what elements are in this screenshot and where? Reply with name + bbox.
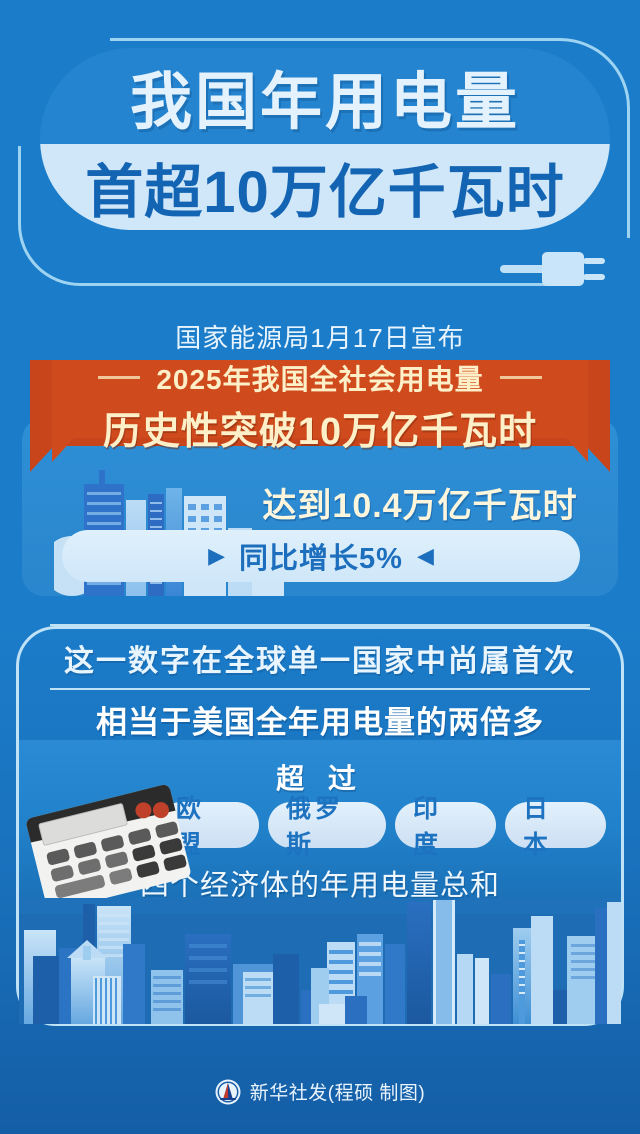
growth-text: 同比增长5% (239, 535, 403, 577)
dash-left-icon (98, 376, 140, 379)
page-title-line1: 我国年用电量 (40, 48, 610, 144)
dash-right-icon (500, 376, 542, 379)
calculator-icon (18, 784, 198, 909)
divider-bottom (50, 688, 590, 690)
footer-credit: 新华社发(程硕 制图) (250, 1078, 425, 1105)
title-card: 我国年用电量 首超10万亿千瓦时 (40, 48, 610, 230)
country-pill-japan[interactable]: 日 本 (505, 802, 606, 848)
footer: 新华社发(程硕 制图) (0, 1078, 640, 1105)
source-announcement: 国家能源局1月17日宣布 (0, 318, 640, 355)
city-skyline-large (19, 898, 621, 1024)
xinhua-logo-icon (215, 1079, 241, 1105)
page-title-line2: 首超10万亿千瓦时 (40, 144, 610, 230)
country-pill-india[interactable]: 印 度 (395, 802, 496, 848)
country-pill-row: 欧 盟 俄罗斯 印 度 日 本 (158, 802, 606, 848)
reach-value-text: 达到10.4万亿千瓦时 (220, 478, 620, 527)
double-us-text: 相当于美国全年用电量的两倍多 (0, 697, 640, 742)
triangle-left-icon: ▶ (208, 545, 225, 567)
banner-eyebrow-row: 2025年我国全社会用电量 (98, 358, 541, 398)
country-pill-russia[interactable]: 俄罗斯 (268, 802, 386, 848)
triangle-right-icon: ◀ (417, 545, 434, 567)
global-first-text: 这一数字在全球单一国家中尚属首次 (0, 636, 640, 680)
divider-top (50, 624, 590, 626)
banner-headline: 历史性突破10万亿千瓦时 (103, 400, 537, 455)
growth-pill: ▶ 同比增长5% ◀ (62, 530, 580, 582)
plug-icon (500, 246, 610, 292)
banner-eyebrow: 2025年我国全社会用电量 (156, 358, 483, 398)
